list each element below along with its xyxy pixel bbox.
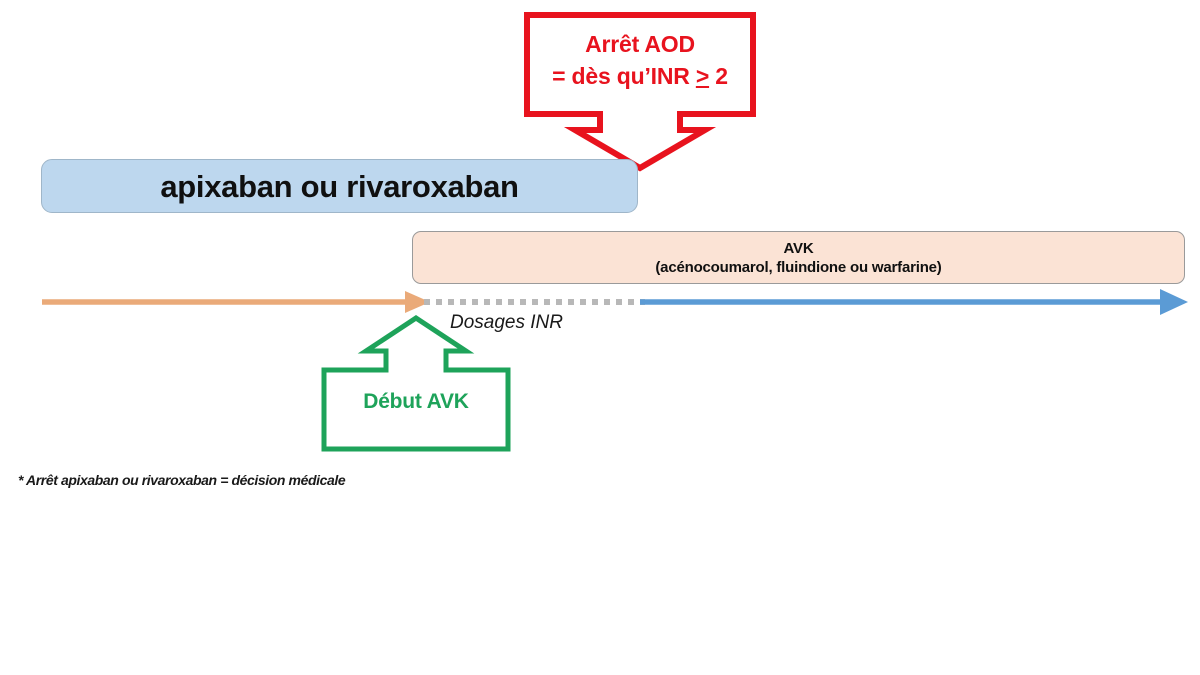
diagram-canvas: Arrêt AOD = dès qu’INR > 2 apixaban ou r… — [0, 0, 1200, 675]
debut-avk-label: Début AVK — [325, 391, 507, 412]
avk-timeline-segment — [640, 289, 1188, 315]
arret-aod-line-2: = dès qu’INR > 2 — [528, 60, 752, 92]
arret-aod-callout: Arrêt AOD = dès qu’INR > 2 — [520, 8, 760, 173]
aod-timeline-segment — [42, 291, 430, 313]
avk-box: AVK (acénocoumarol, fluindione ou warfar… — [412, 231, 1185, 284]
greater-or-equal-symbol: > — [696, 63, 709, 89]
arret-aod-line-2-prefix: = dès qu’INR — [552, 63, 696, 89]
arret-aod-line-2-suffix: 2 — [709, 63, 728, 89]
debut-avk-callout: Début AVK — [320, 313, 512, 453]
avk-subtitle: (acénocoumarol, fluindione ou warfarine) — [655, 258, 941, 277]
debut-avk-callout-shape — [320, 313, 512, 453]
avk-title: AVK — [784, 239, 814, 258]
arret-aod-line-1: Arrêt AOD — [528, 28, 752, 60]
timeline-arrows — [0, 280, 1200, 330]
treatment-timeline — [0, 280, 1200, 330]
footnote-text: * Arrêt apixaban ou rivaroxaban = décisi… — [18, 472, 345, 488]
apixaban-rivaroxaban-label: apixaban ou rivaroxaban — [160, 171, 518, 202]
arret-aod-callout-text: Arrêt AOD = dès qu’INR > 2 — [528, 28, 752, 92]
apixaban-rivaroxaban-box: apixaban ou rivaroxaban — [41, 159, 638, 213]
